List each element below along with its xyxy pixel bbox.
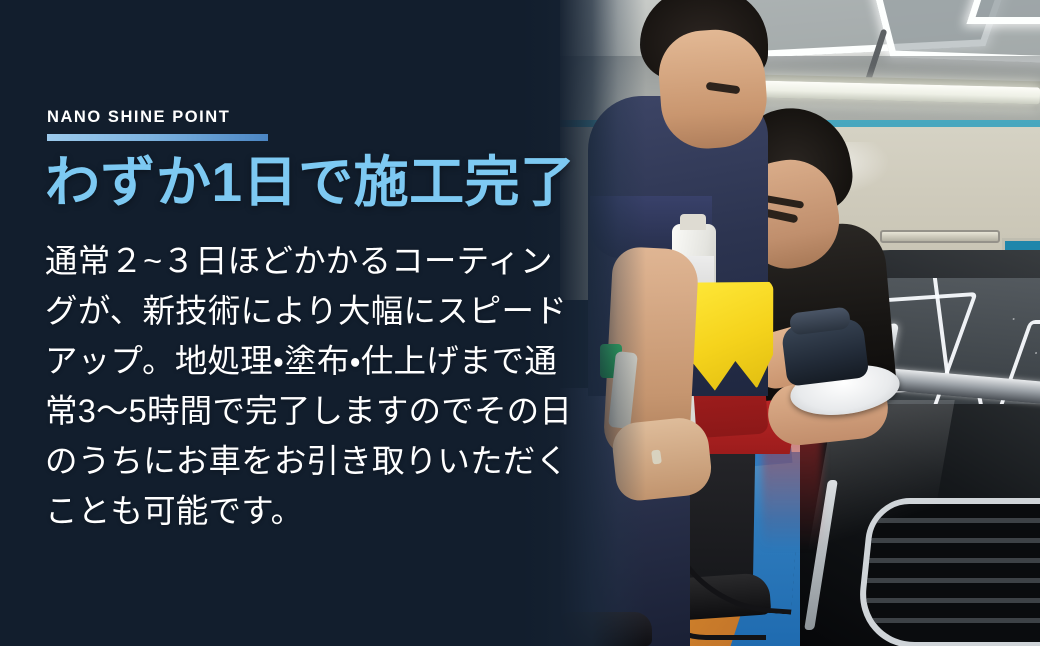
page-title: わずか1日で施工完了 [45,152,576,214]
text-panel: NANO SHINE POINT わずか1日で施工完了 通常２~３日ほどかかるコ… [0,0,600,646]
eyebrow-label: NANO SHINE POINT [47,108,275,127]
body-paragraph: 通常２~３日ほどかかるコーティングが、新技術により大幅にスピードアップ。地処理・… [45,236,585,536]
worker1-hand [610,415,714,503]
wall-fixture [880,230,1000,243]
eyebrow-underline [47,134,268,141]
eyebrow-block: NANO SHINE POINT [47,108,275,141]
worker1-ring [651,449,662,464]
hex-led-light-icon [966,0,1040,24]
spray-bottle-cap [680,214,706,230]
nano-shine-point-banner: NANO SHINE POINT わずか1日で施工完了 通常２~３日ほどかかるコ… [0,0,1040,646]
